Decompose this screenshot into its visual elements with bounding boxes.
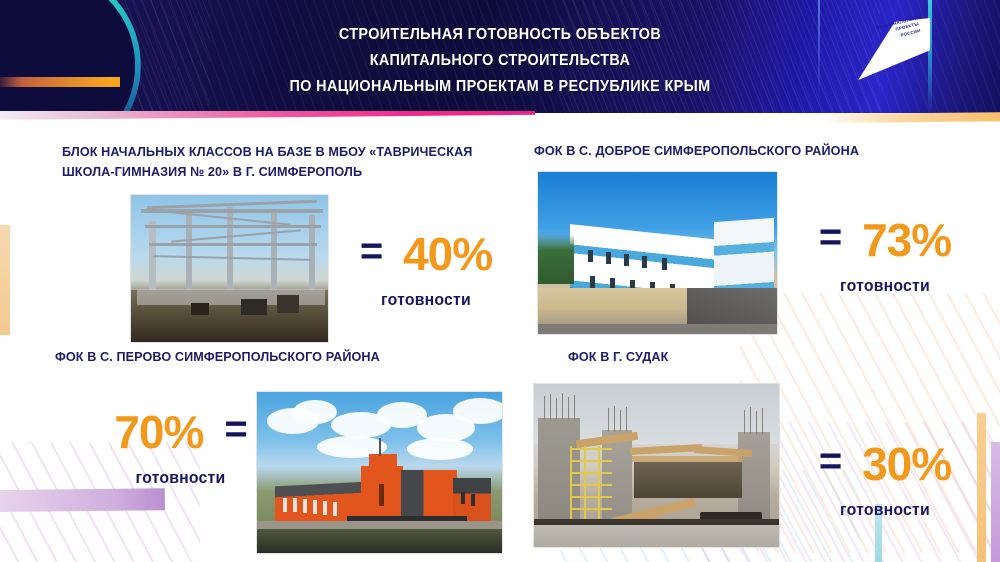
card-title-fok-dobroe: ФОК В С. ДОБРОЕ СИМФЕРОПОЛЬСКОГО РАЙОНА <box>534 141 933 161</box>
photo-fok-dobroe <box>537 171 778 335</box>
metric-fok-perovo: 70% = готовности <box>88 409 273 488</box>
percent-value-fok-sudak: 30% <box>862 441 951 487</box>
equals-sign-school-simferopol: = <box>360 231 382 271</box>
readiness-label-school-simferopol: готовности <box>340 291 513 310</box>
card-fok-sudak: ФОК В Г. СУДАК <box>568 347 868 367</box>
card-title-line-2: ШКОЛА-ГИМНАЗИЯ № 20» В Г. СИМФЕРОПОЛЬ <box>62 162 509 182</box>
equals-sign-fok-perovo: = <box>224 409 246 449</box>
page-title-line-3: ПО НАЦИОНАЛЬНЫМ ПРОЕКТАМ В РЕСПУБЛИКЕ КР… <box>35 74 965 100</box>
page-title-line-1: СТРОИТЕЛЬНАЯ ГОТОВНОСТЬ ОБЪЕКТОВ <box>35 22 965 48</box>
card-title-fok-sudak: ФОК В Г. СУДАК <box>568 347 853 367</box>
page-header: СТРОИТЕЛЬНАЯ ГОТОВНОСТЬ ОБЪЕКТОВ КАПИТАЛ… <box>0 0 1000 113</box>
percent-value-fok-perovo: 70% <box>114 409 203 455</box>
readiness-label-fok-sudak: готовности <box>794 501 976 520</box>
metric-fok-sudak: = 30% готовности <box>790 441 980 520</box>
percent-value-school-simferopol: 40% <box>403 231 492 277</box>
photo-fok-perovo <box>256 391 503 554</box>
equals-sign-fok-dobroe: = <box>819 217 841 257</box>
card-school-simferopol: БЛОК НАЧАЛЬНЫХ КЛАССОВ НА БАЗЕ В МБОУ «Т… <box>62 142 532 182</box>
card-title-fok-perovo: ФОК В С. ПЕРОВО СИМФЕРОПОЛЬСКОГО РАЙОНА <box>55 347 454 367</box>
metric-row-fok-dobroe: = 73% <box>790 217 980 263</box>
card-fok-dobroe: ФОК В С. ДОБРОЕ СИМФЕРОПОЛЬСКОГО РАЙОНА <box>534 141 954 161</box>
metric-school-simferopol: = 40% готовности <box>336 231 516 310</box>
card-fok-perovo: ФОК В С. ПЕРОВО СИМФЕРОПОЛЬСКОГО РАЙОНА <box>55 347 475 367</box>
page-title-line-2: КАПИТАЛЬНОГО СТРОИТЕЛЬСТВА <box>35 48 965 74</box>
metric-row-fok-perovo: 70% = <box>88 409 273 455</box>
national-projects-logo: НАЦИОНАЛЬНЫЕ ПРОЕКТЫ РОССИИ <box>852 18 930 80</box>
metric-fok-dobroe: = 73% готовности <box>790 217 980 296</box>
photo-fok-sudak <box>533 383 780 548</box>
percent-value-fok-dobroe: 73% <box>862 217 951 263</box>
content-area: БЛОК НАЧАЛЬНЫХ КЛАССОВ НА БАЗЕ В МБОУ «Т… <box>0 113 1000 562</box>
photo-school-simferopol <box>130 194 329 343</box>
readiness-label-fok-perovo: готовности <box>92 469 270 488</box>
card-title-line-1: БЛОК НАЧАЛЬНЫХ КЛАССОВ НА БАЗЕ В МБОУ «Т… <box>62 142 509 162</box>
metric-row-school-simferopol: = 40% <box>336 231 516 277</box>
card-title-school-simferopol: БЛОК НАЧАЛЬНЫХ КЛАССОВ НА БАЗЕ В МБОУ «Т… <box>62 142 509 182</box>
page-title: СТРОИТЕЛЬНАЯ ГОТОВНОСТЬ ОБЪЕКТОВ КАПИТАЛ… <box>35 22 965 100</box>
metric-row-fok-sudak: = 30% <box>790 441 980 487</box>
equals-sign-fok-sudak: = <box>819 441 841 481</box>
readiness-label-fok-dobroe: готовности <box>794 277 976 296</box>
